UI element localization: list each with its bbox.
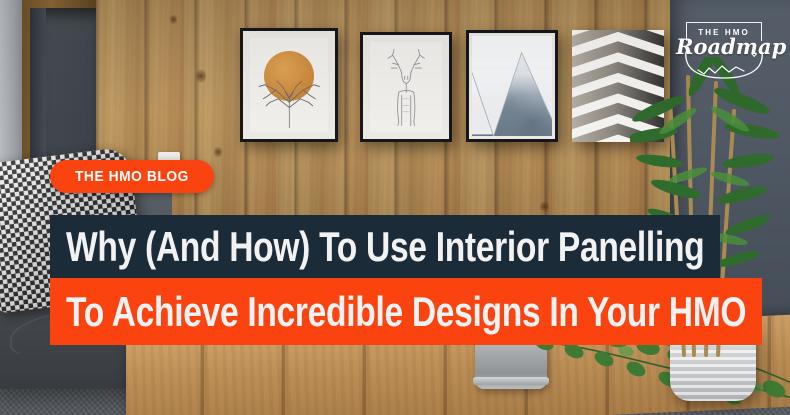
article-title-line-1: Why (And How) To Use Interior Panelling xyxy=(66,226,704,268)
featured-image-canvas: THE HMO BLOG Why (And How) To Use Interi… xyxy=(0,0,790,415)
room-photo xyxy=(0,0,790,415)
title-line-1-bar: Why (And How) To Use Interior Panelling xyxy=(50,215,720,278)
the-hmo-roadmap-logo[interactable]: THE HMO Roadmap xyxy=(676,8,772,80)
photo-overlay-scrim xyxy=(0,0,790,415)
blog-category-label: THE HMO BLOG xyxy=(75,168,189,185)
logo-swoosh-icon xyxy=(682,44,766,80)
blog-category-badge[interactable]: THE HMO BLOG xyxy=(50,160,214,193)
article-title-line-2: To Achieve Incredible Designs In Your HM… xyxy=(66,291,746,333)
title-line-2-bar: To Achieve Incredible Designs In Your HM… xyxy=(50,278,762,345)
